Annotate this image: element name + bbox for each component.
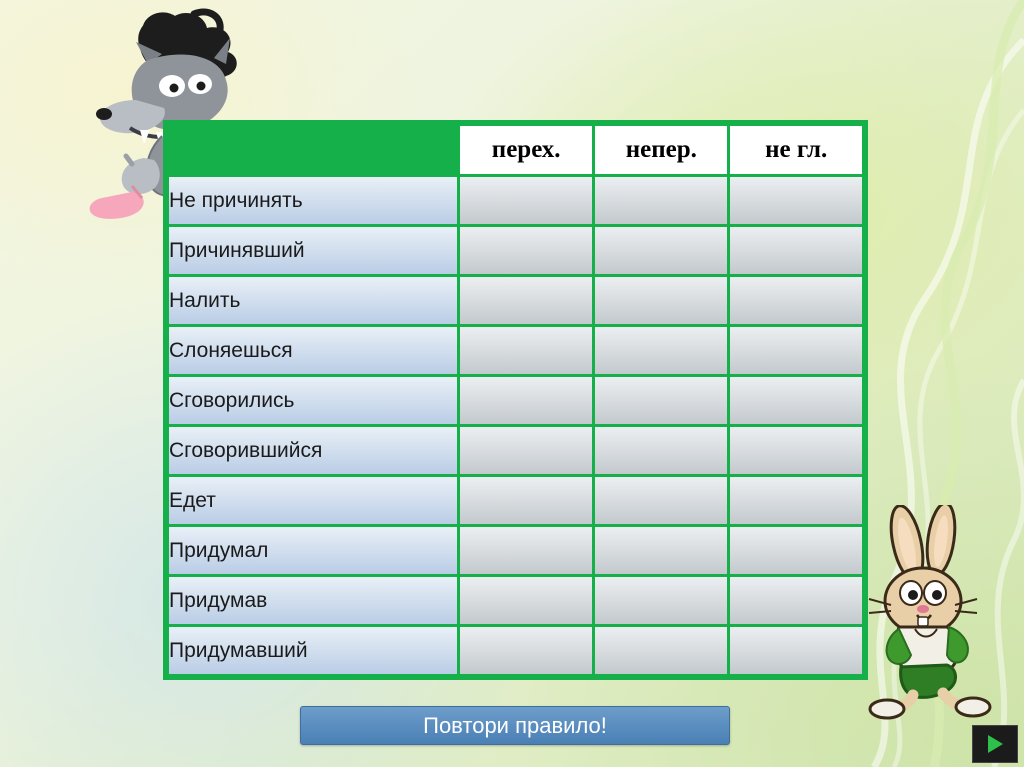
next-slide-button[interactable]	[972, 725, 1018, 763]
answer-cell-neper[interactable]	[595, 177, 727, 224]
row-label: Не причинять	[169, 177, 457, 224]
table-row: Причинявший	[169, 227, 862, 274]
answer-cell-neper[interactable]	[595, 427, 727, 474]
answer-cell-neper[interactable]	[595, 527, 727, 574]
row-label: Сговорились	[169, 377, 457, 424]
answer-cell-neper[interactable]	[595, 327, 727, 374]
answer-cell-ne-gl[interactable]	[730, 527, 862, 574]
row-label: Придумал	[169, 527, 457, 574]
table-corner-cell	[169, 126, 457, 174]
answer-cell-ne-gl[interactable]	[730, 577, 862, 624]
play-triangle-icon	[988, 735, 1003, 753]
answer-cell-neper[interactable]	[595, 377, 727, 424]
column-header-ne-gl: не гл.	[730, 126, 862, 174]
row-label: Причинявший	[169, 227, 457, 274]
table-row: Придумавший	[169, 627, 862, 674]
table-body: Не причинять Причинявший Налить	[169, 177, 862, 674]
row-label: Придумав	[169, 577, 457, 624]
answer-cell-neper[interactable]	[595, 577, 727, 624]
answer-cell-neper[interactable]	[595, 627, 727, 674]
repeat-rule-button[interactable]: Повтори правило!	[300, 706, 730, 745]
verbs-table: перех. непер. не гл. Не причинять Причин…	[163, 120, 868, 680]
answer-cell-perekh[interactable]	[460, 377, 592, 424]
answer-cell-perekh[interactable]	[460, 477, 592, 524]
answer-cell-perekh[interactable]	[460, 277, 592, 324]
answer-cell-perekh[interactable]	[460, 227, 592, 274]
answer-cell-ne-gl[interactable]	[730, 377, 862, 424]
answer-cell-ne-gl[interactable]	[730, 477, 862, 524]
table-row: Придумав	[169, 577, 862, 624]
answer-cell-perekh[interactable]	[460, 627, 592, 674]
row-label: Сговорившийся	[169, 427, 457, 474]
slide-canvas: перех. непер. не гл. Не причинять Причин…	[0, 0, 1024, 767]
table-row: Сговорившийся	[169, 427, 862, 474]
answer-cell-perekh[interactable]	[460, 527, 592, 574]
rabbit-cartoon-icon	[855, 505, 1020, 720]
row-label: Едет	[169, 477, 457, 524]
answer-cell-perekh[interactable]	[460, 427, 592, 474]
answer-cell-ne-gl[interactable]	[730, 627, 862, 674]
verbs-table-wrapper: перех. непер. не гл. Не причинять Причин…	[163, 120, 868, 680]
answer-cell-ne-gl[interactable]	[730, 327, 862, 374]
table-row: Придумал	[169, 527, 862, 574]
answer-cell-neper[interactable]	[595, 477, 727, 524]
answer-cell-perekh[interactable]	[460, 327, 592, 374]
row-label: Налить	[169, 277, 457, 324]
table-row: Слоняешься	[169, 327, 862, 374]
answer-cell-ne-gl[interactable]	[730, 177, 862, 224]
answer-cell-ne-gl[interactable]	[730, 277, 862, 324]
row-label: Слоняешься	[169, 327, 457, 374]
table-row: Налить	[169, 277, 862, 324]
row-label: Придумавший	[169, 627, 457, 674]
table-header-row: перех. непер. не гл.	[169, 126, 862, 174]
column-header-perekh: перех.	[460, 126, 592, 174]
column-header-neper: непер.	[595, 126, 727, 174]
answer-cell-neper[interactable]	[595, 277, 727, 324]
answer-cell-neper[interactable]	[595, 227, 727, 274]
table-row: Сговорились	[169, 377, 862, 424]
answer-cell-perekh[interactable]	[460, 577, 592, 624]
table-row: Не причинять	[169, 177, 862, 224]
answer-cell-ne-gl[interactable]	[730, 427, 862, 474]
answer-cell-ne-gl[interactable]	[730, 227, 862, 274]
answer-cell-perekh[interactable]	[460, 177, 592, 224]
table-row: Едет	[169, 477, 862, 524]
